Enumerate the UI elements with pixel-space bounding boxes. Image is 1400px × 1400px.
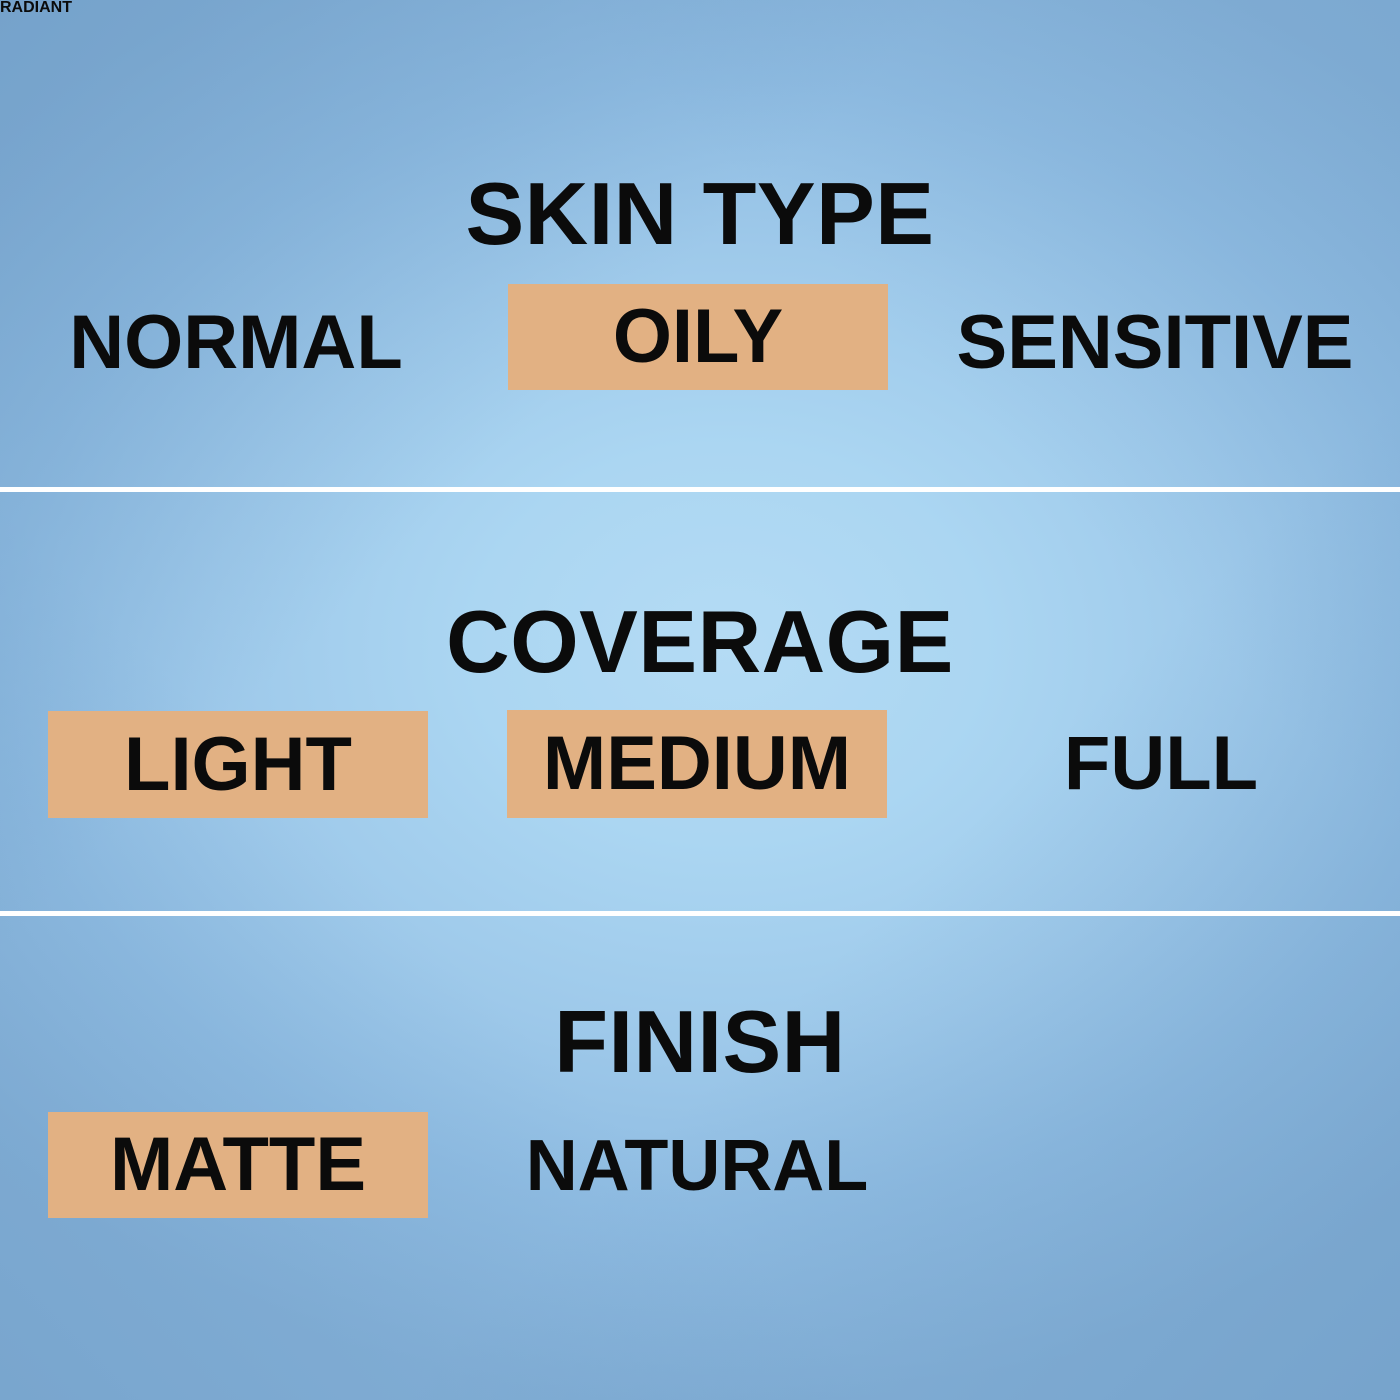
section-title-skin-type: SKIN TYPE [0, 170, 1400, 258]
option-radiant[interactable]: RADIANT [0, 0, 72, 16]
option-matte[interactable]: MATTE [48, 1112, 428, 1218]
option-normal[interactable]: NORMAL [60, 300, 412, 386]
option-sensitive[interactable]: SENSITIVE [958, 300, 1352, 386]
option-oily[interactable]: OILY [508, 284, 888, 390]
option-natural[interactable]: NATURAL [516, 1128, 878, 1204]
section-title-coverage: COVERAGE [0, 598, 1400, 686]
option-medium[interactable]: MEDIUM [507, 710, 887, 818]
option-light[interactable]: LIGHT [48, 711, 428, 818]
section-divider-1 [0, 487, 1400, 492]
section-title-finish: FINISH [0, 998, 1400, 1086]
option-full[interactable]: FULL [1030, 722, 1292, 806]
section-divider-2 [0, 911, 1400, 916]
selector-infographic: SKIN TYPE NORMAL OILY SENSITIVE COVERAGE… [0, 0, 1400, 1400]
